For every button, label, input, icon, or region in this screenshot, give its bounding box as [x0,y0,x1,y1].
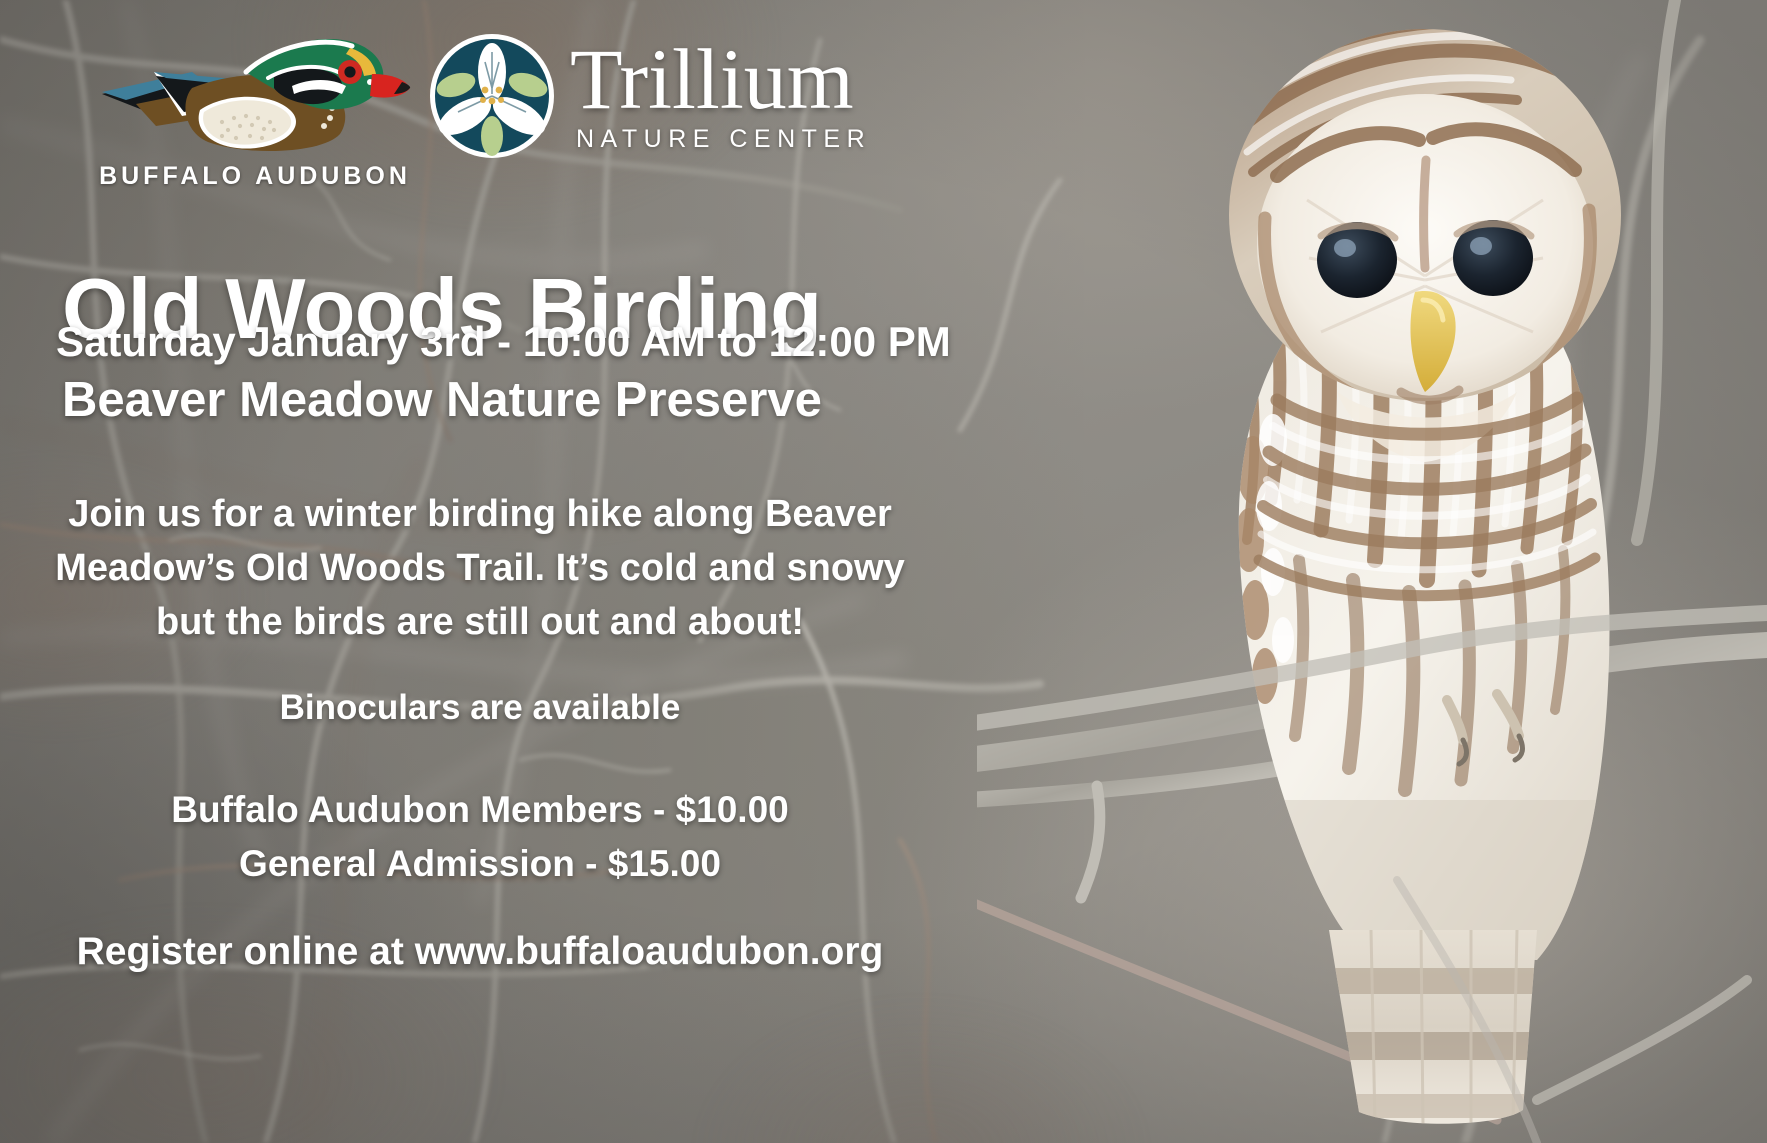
wood-duck-icon [96,30,414,160]
trillium-flower-icon [428,32,556,160]
flyer-content: BUFFALO AUDUBON [0,0,1015,1143]
trillium-nature-center-logo: Trillium NATURE CENTER [428,32,871,160]
barred-owl-illustration [977,0,1767,1143]
registration-url[interactable]: www.buffaloaudubon.org [415,930,884,973]
registration-prefix: Register online at [77,930,415,973]
pricing-block: Buffalo Audubon Members - $10.00 General… [0,783,960,890]
event-flyer: BUFFALO AUDUBON [0,0,1767,1143]
binoculars-note: Binoculars are available [0,688,960,728]
description-line-1: Join us for a winter birding hike along … [0,488,960,542]
barred-owl-photo [967,0,1767,1143]
price-general: General Admission - $15.00 [0,837,960,891]
logo-row: BUFFALO AUDUBON [88,22,888,202]
trillium-wordmark-block: Trillium NATURE CENTER [570,32,871,154]
trillium-subtitle: NATURE CENTER [576,125,871,154]
registration-line: Register online at www.buffaloaudubon.or… [0,930,960,974]
price-members: Buffalo Audubon Members - $10.00 [0,783,960,837]
event-description: Join us for a winter birding hike along … [0,488,960,650]
buffalo-audubon-wordmark: BUFFALO AUDUBON [96,162,414,191]
event-location: Beaver Meadow Nature Preserve [62,372,962,428]
buffalo-audubon-logo: BUFFALO AUDUBON [96,30,414,191]
description-line-3: but the birds are still out and about! [0,596,960,650]
event-datetime: Saturday January 3rd - 10:00 AM to 12:00… [56,318,956,366]
trillium-wordmark: Trillium [570,40,871,119]
description-line-2: Meadow’s Old Woods Trail. It’s cold and … [0,542,960,596]
